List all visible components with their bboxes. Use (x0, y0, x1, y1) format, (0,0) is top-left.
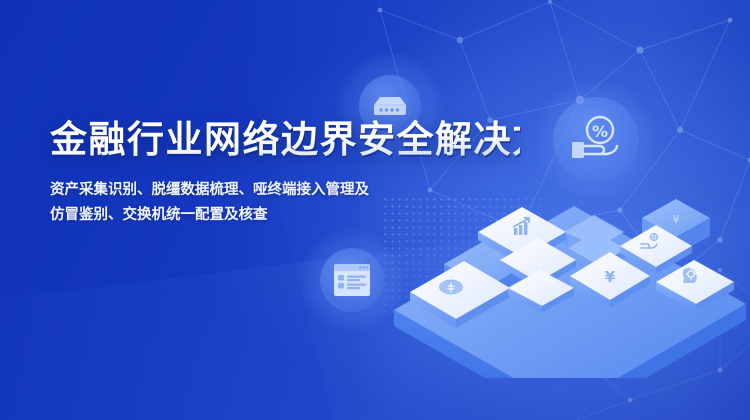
document-checklist-icon (332, 262, 372, 298)
headline-block: 金融行业网络边界安全解决方案 资产采集识别、脱缰数据梳理、哑终端接入管理及 仿冒… (50, 118, 520, 228)
subtitle-line-2: 仿冒鉴别、交换机统一配置及核查 (50, 203, 520, 228)
money-bag-icon (439, 280, 463, 295)
yen-block-icon: ¥ (673, 213, 680, 226)
subtitle-line-1: 资产采集识别、脱缰数据梳理、哑终端接入管理及 (50, 178, 520, 203)
switch-icon (371, 91, 409, 121)
page-subtitle: 资产采集识别、脱缰数据梳理、哑终端接入管理及 仿冒鉴别、交换机统一配置及核查 (50, 178, 520, 228)
svg-text:%: % (592, 122, 608, 141)
badge-core (320, 248, 384, 312)
yen-icon: ¥ (605, 268, 616, 286)
banner-root: % (0, 0, 750, 420)
page-title: 金融行业网络边界安全解决方案 (50, 118, 520, 162)
